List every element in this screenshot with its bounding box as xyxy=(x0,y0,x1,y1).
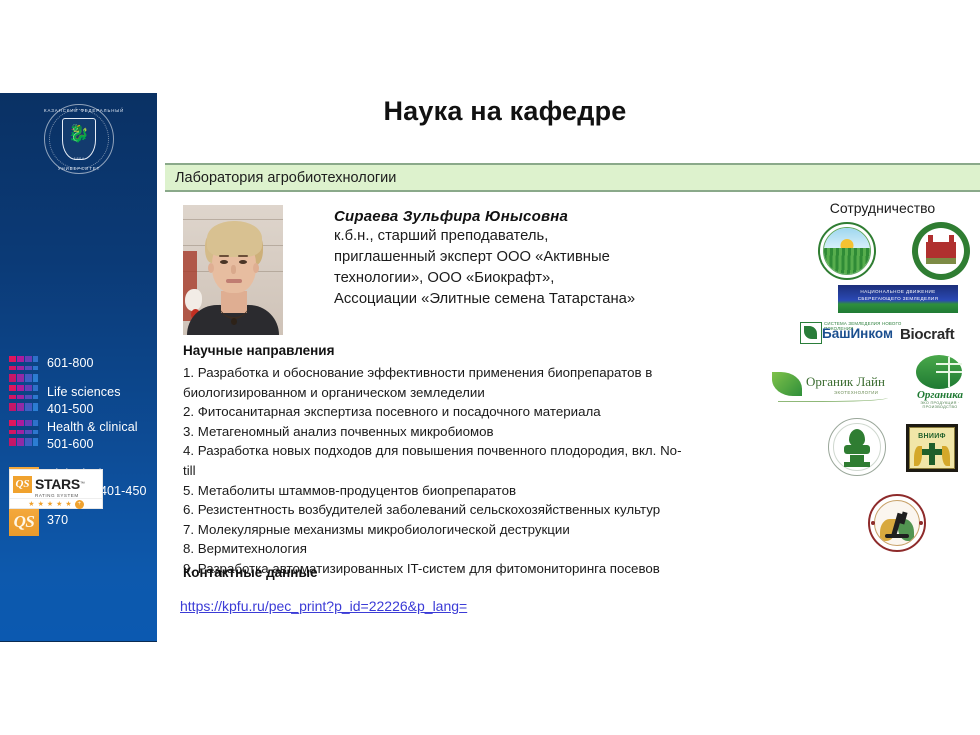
star-icon: ★ xyxy=(56,501,62,508)
qs-stars-word: STARS xyxy=(35,476,80,492)
microscope-emblem-logo xyxy=(868,494,926,552)
star-icon: ★ xyxy=(47,501,53,508)
person-detail-line: Ассоциации «Элитные семена Татарстана» xyxy=(334,289,774,310)
contact-profile-link[interactable]: https://kpfu.ru/pec_print?p_id=22226&p_l… xyxy=(180,598,467,614)
page-title: Наука на кафедре xyxy=(165,96,845,127)
ranking-label: Health & clinical 501-600 xyxy=(39,419,138,452)
the-logo-icon xyxy=(9,385,39,411)
list-item: till xyxy=(183,461,743,481)
star-icon: ★ xyxy=(28,501,34,508)
list-item: 3. Метагеномный анализ почвенных микроби… xyxy=(183,422,743,442)
person-name: Сираева Зульфира Юнысовна xyxy=(334,208,774,225)
organika-logo: Органика ЭКО ПРОДУКЦИЯ · ПРОИЗВОДСТВО xyxy=(906,355,974,407)
ranking-label: 370 xyxy=(39,507,68,529)
banner-line-2: СБЕРЕГАЮЩЕГО ЗЕМЛЕДЕЛИЯ xyxy=(838,296,958,301)
agro-field-emblem-logo xyxy=(818,222,876,280)
organic-line-logo: Органик Лайн ЭКОТЕХНОЛОГИИ xyxy=(772,370,902,404)
list-item: 2. Фитосанитарная экспертиза посевного и… xyxy=(183,402,743,422)
kfu-emblem-logo: КАЗАНСКИЙ ФЕДЕРАЛЬНЫЙ 🐉 1804 УНИВЕРСИТЕТ xyxy=(44,104,114,174)
rankings-list: 601-800 Life sciences 401-500 Health & c… xyxy=(0,355,157,544)
list-item: 5. Метаболиты штаммов-продуцентов биопре… xyxy=(183,481,743,501)
avatar xyxy=(183,205,283,335)
the-logo-icon xyxy=(9,356,39,382)
seal-arc-bottom-text: УНИВЕРСИТЕТ xyxy=(44,166,114,171)
vniif-name: ВНИИФ xyxy=(910,433,954,440)
left-sidebar: КАЗАНСКИЙ ФЕДЕРАЛЬНЫЙ 🐉 1804 УНИВЕРСИТЕТ… xyxy=(0,93,157,641)
trademark-icon: ™ xyxy=(80,481,85,487)
zilant-dragon-icon: 🐉 xyxy=(68,125,89,142)
banner-line-1: НАЦИОНАЛЬНОЕ ДВИЖЕНИЕ xyxy=(838,289,958,294)
list-item: 6. Резистентность возбудителей заболеван… xyxy=(183,500,743,520)
section-header-label: Лаборатория агробиотехнологии xyxy=(165,165,980,186)
ranking-row-the-health-clinical: Health & clinical 501-600 xyxy=(0,419,157,452)
list-item: 4. Разработка новых подходов для повышен… xyxy=(183,441,743,461)
list-item: 1. Разработка и обоснование эффективност… xyxy=(183,363,743,383)
organic-line-name: Органик Лайн xyxy=(806,374,885,390)
person-detail-line: к.б.н., старший преподаватель, xyxy=(334,226,774,247)
ranking-row-qs-overall: QS 370 xyxy=(0,507,157,536)
organika-subtitle: ЭКО ПРОДУКЦИЯ · ПРОИЗВОДСТВО xyxy=(906,401,974,409)
ranking-row-the-overall: 601-800 xyxy=(0,355,157,382)
list-item: биологизированном и органическом земледе… xyxy=(183,383,743,403)
qs-logo-icon: QS xyxy=(9,508,39,536)
contacts-heading: Контактные данные xyxy=(183,565,318,580)
presentation-slide: КАЗАНСКИЙ ФЕДЕРАЛЬНЫЙ 🐉 1804 УНИВЕРСИТЕТ… xyxy=(0,0,980,735)
the-logo-icon xyxy=(9,420,39,446)
qs-stars-badge: QS STARS ™ RATING SYSTEM ★ ★ ★ ★ ★ + xyxy=(9,469,103,509)
national-movement-banner-logo: НАЦИОНАЛЬНОЕ ДВИЖЕНИЕ СБЕРЕГАЮЩЕГО ЗЕМЛЕ… xyxy=(838,285,958,313)
star-icon: ★ xyxy=(65,501,71,508)
cooperation-title: Сотрудничество xyxy=(790,200,975,216)
vniif-logo: ВНИИФ xyxy=(906,424,958,472)
list-item: 8. Вермитехнология xyxy=(183,539,743,559)
ranking-label: 601-800 xyxy=(39,355,94,372)
ranking-row-the-life-sciences: Life sciences 401-500 xyxy=(0,384,157,417)
bashincom-logo: СИСТЕМА ЗЕМЛЕДЕЛИЯ НОВОГО ПОКОЛЕНИЯ БашИ… xyxy=(800,320,904,344)
person-info: Сираева Зульфира Юнысовна к.б.н., старши… xyxy=(334,208,774,310)
ranking-label: Life sciences 401-500 xyxy=(39,384,121,417)
section-header-bar: Лаборатория агробиотехнологии xyxy=(165,163,980,192)
biocontrol-emblem-logo xyxy=(828,418,886,476)
star-icon: ★ xyxy=(38,501,44,508)
research-directions-list: 1. Разработка и обоснование эффективност… xyxy=(183,363,743,579)
bashincom-name: БашИнком xyxy=(822,326,893,341)
biocraft-logo: Biocraft xyxy=(900,326,980,344)
plus-badge-icon: + xyxy=(75,500,84,509)
person-detail-line: технологии», ООО «Биокрафт», xyxy=(334,268,774,289)
seal-year: 1804 xyxy=(44,156,114,161)
mosque-emblem-logo xyxy=(912,222,970,280)
list-item: 7. Молекулярные механизмы микробиологиче… xyxy=(183,520,743,540)
research-directions-heading: Научные направления xyxy=(183,343,334,358)
qs-stars-rating-row: ★ ★ ★ ★ ★ + xyxy=(10,498,102,510)
person-detail-line: приглашенный эксперт ООО «Активные xyxy=(334,247,774,268)
organika-name: Органика xyxy=(906,389,974,401)
qs-stars-mark: QS xyxy=(13,476,32,493)
seal-arc-top-text: КАЗАНСКИЙ ФЕДЕРАЛЬНЫЙ xyxy=(44,108,114,113)
